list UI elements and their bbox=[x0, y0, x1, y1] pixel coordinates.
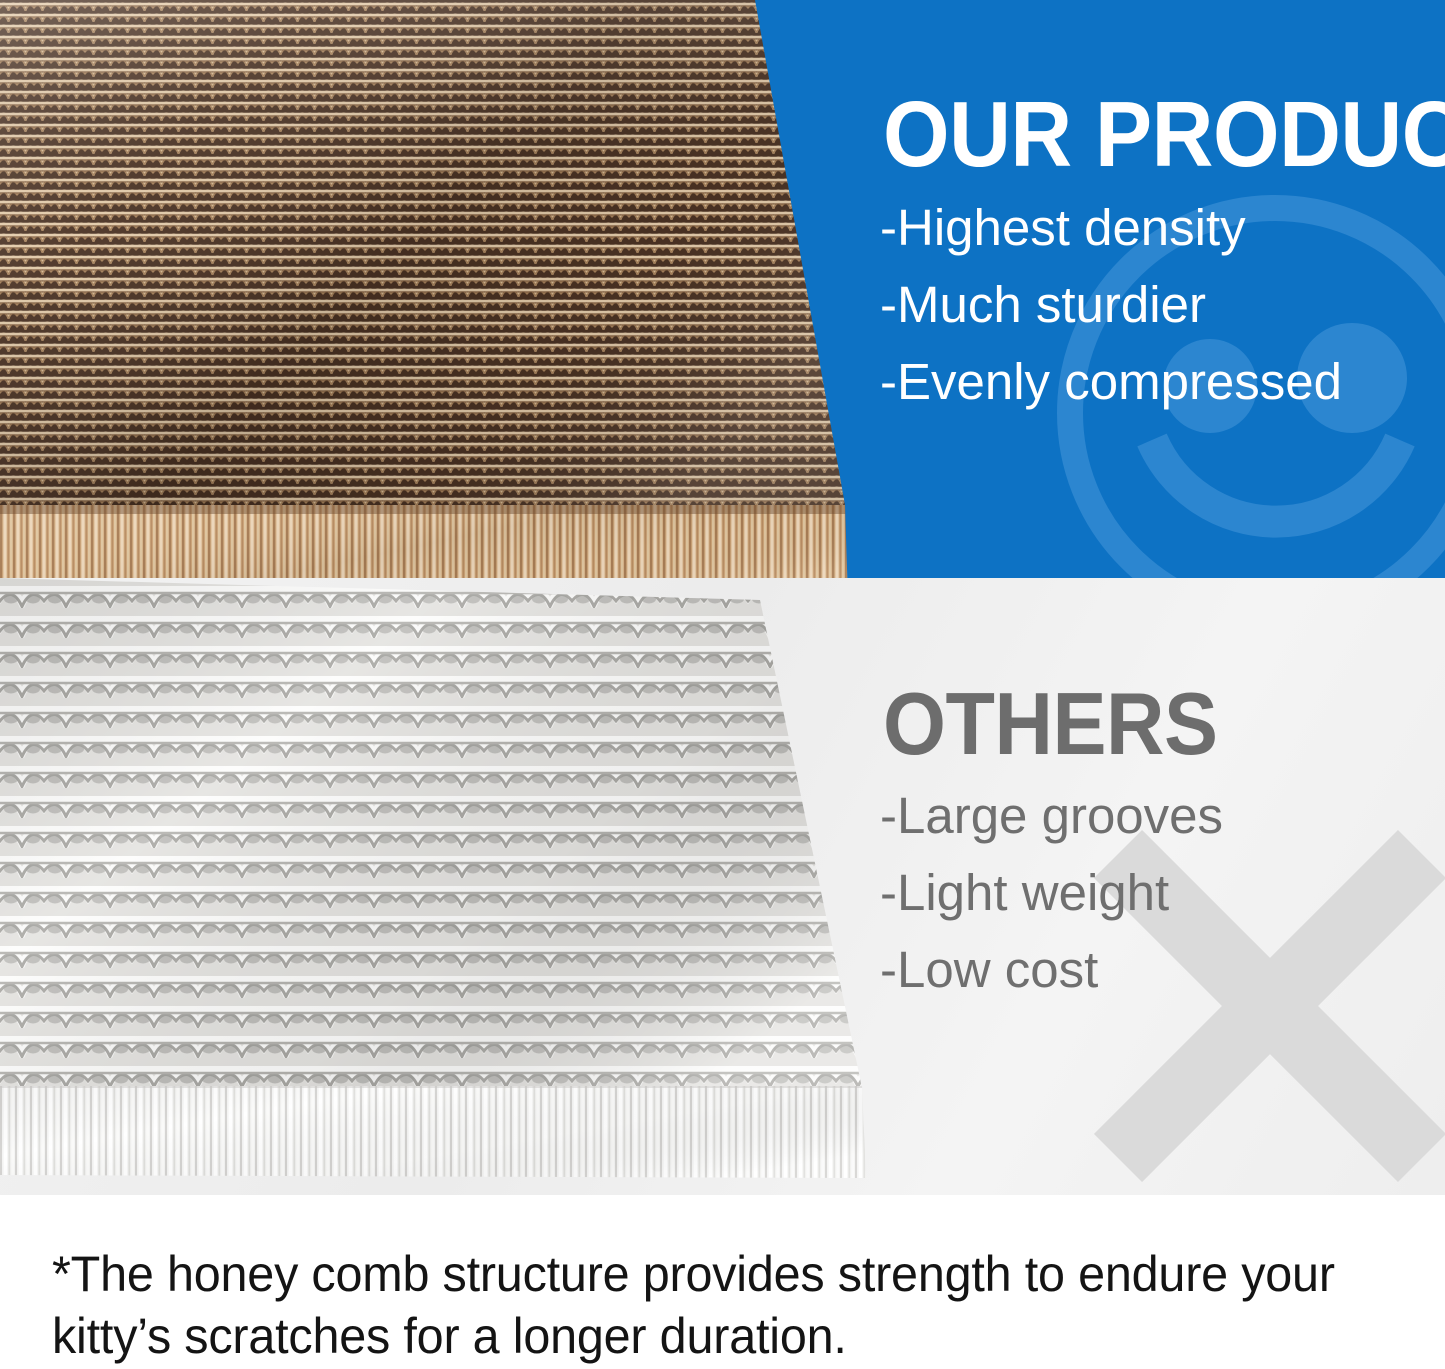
our-product-material-image bbox=[0, 0, 860, 605]
our-product-bullet-list: -Highest density -Much sturdier -Evenly … bbox=[880, 202, 1342, 433]
others-bullet-list: -Large grooves -Light weight -Low cost bbox=[880, 790, 1223, 1021]
list-item: -Large grooves bbox=[880, 790, 1223, 841]
others-material-image bbox=[0, 578, 880, 1195]
list-item: -Highest density bbox=[880, 202, 1342, 253]
product-comparison-infographic: OUR PRODUCT -Highest density -Much sturd… bbox=[0, 0, 1445, 1369]
others-heading: OTHERS bbox=[883, 680, 1218, 768]
list-item: -Much sturdier bbox=[880, 279, 1342, 330]
others-section bbox=[0, 578, 1445, 1195]
our-product-heading: OUR PRODUCT bbox=[883, 88, 1445, 181]
list-item: -Low cost bbox=[880, 944, 1223, 995]
list-item: -Light weight bbox=[880, 867, 1223, 918]
list-item: -Evenly compressed bbox=[880, 356, 1342, 407]
footnote-text: *The honey comb structure provides stren… bbox=[52, 1243, 1360, 1367]
